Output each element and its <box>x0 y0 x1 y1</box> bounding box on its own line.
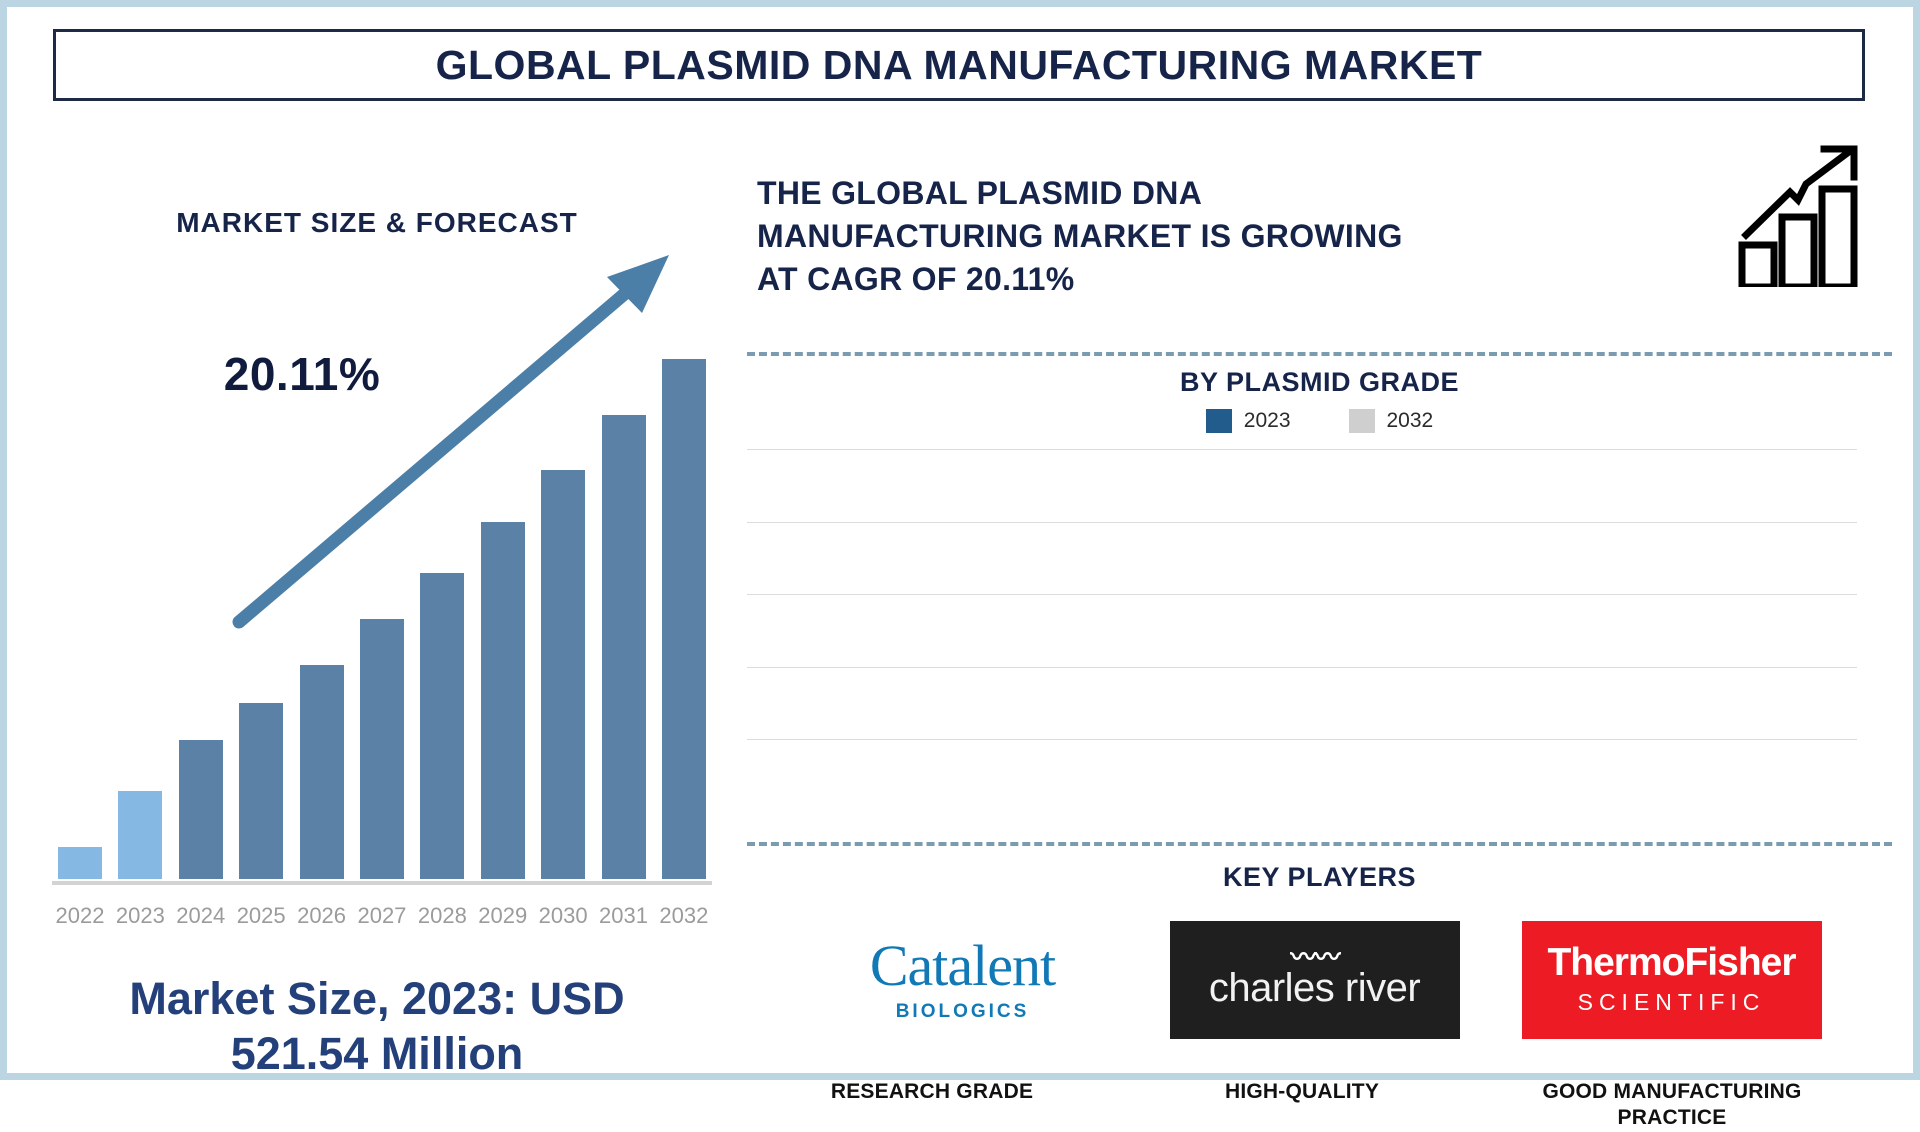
infographic-page: GLOBAL PLASMID DNA MANUFACTURING MARKET … <box>0 0 1920 1080</box>
bar-column <box>294 359 350 879</box>
market-size-bars <box>52 359 712 879</box>
bar-column <box>475 359 531 879</box>
thermofisher-wordmark: ThermoFisher <box>1547 943 1795 982</box>
year-label: 2026 <box>294 903 350 929</box>
bar-column <box>354 359 410 879</box>
catalent-wordmark: Catalent <box>870 937 1055 995</box>
year-axis-labels: 2022 2023 2024 2025 2026 2027 2028 2029 … <box>52 903 712 929</box>
bar-2027 <box>360 619 404 879</box>
bar-2031 <box>602 415 646 879</box>
logo-charles-river: 〰〰 charles river <box>1170 921 1460 1039</box>
growth-statement: THE GLOBAL PLASMID DNA MANUFACTURING MAR… <box>757 172 1657 302</box>
year-label: 2025 <box>233 903 289 929</box>
logo-thermo-fisher: ThermoFisher SCIENTIFIC <box>1522 921 1822 1039</box>
segment-title: BY PLASMID GRADE <box>737 367 1902 398</box>
market-size-bar-chart: 2022 2023 2024 2025 2026 2027 2028 2029 … <box>52 347 712 937</box>
bar-column <box>52 359 108 879</box>
page-title-box: GLOBAL PLASMID DNA MANUFACTURING MARKET <box>53 29 1865 101</box>
year-label: 2024 <box>173 903 229 929</box>
bar-column <box>233 359 289 879</box>
category-label-high-quality: HIGH-QUALITY <box>1142 1079 1462 1132</box>
bar-2026 <box>300 665 344 879</box>
bar-2029 <box>481 522 525 880</box>
bar-2025 <box>239 703 283 879</box>
bar-column <box>173 359 229 879</box>
market-size-heading: MARKET SIZE & FORECAST <box>27 207 727 239</box>
growth-statement-line-3: AT CAGR OF 20.11% <box>757 258 1657 301</box>
bar-column <box>535 359 591 879</box>
year-label: 2022 <box>52 903 108 929</box>
market-size-line-1: Market Size, 2023: USD <box>27 972 727 1027</box>
grouped-bars <box>747 449 1857 739</box>
chart-legend: 2023 2032 <box>737 409 1902 433</box>
legend-item-2032: 2032 <box>1349 409 1434 433</box>
bar-column <box>414 359 470 879</box>
year-label: 2029 <box>475 903 531 929</box>
bar-2024 <box>179 740 223 879</box>
legend-label: 2023 <box>1244 409 1291 433</box>
bar-column <box>112 359 168 879</box>
catalent-subtitle: BIOLOGICS <box>896 1001 1030 1023</box>
bar-2030 <box>541 470 585 879</box>
thermofisher-subtitle: SCIENTIFIC <box>1578 989 1766 1016</box>
year-label: 2028 <box>414 903 470 929</box>
chart-baseline <box>52 881 712 885</box>
legend-label: 2032 <box>1387 409 1434 433</box>
growth-statement-line-2: MANUFACTURING MARKET IS GROWING <box>757 215 1657 258</box>
key-players-title: KEY PLAYERS <box>737 862 1902 893</box>
page-title: GLOBAL PLASMID DNA MANUFACTURING MARKET <box>436 42 1483 89</box>
right-panel: THE GLOBAL PLASMID DNA MANUFACTURING MAR… <box>737 117 1902 1072</box>
year-label: 2030 <box>535 903 591 929</box>
year-label: 2032 <box>656 903 712 929</box>
bar-2023 <box>118 791 162 879</box>
divider-bottom <box>747 842 1892 846</box>
logo-catalent: Catalent BIOLOGICS <box>818 920 1108 1040</box>
market-size-forecast-panel: MARKET SIZE & FORECAST 20.11% <box>27 117 727 1067</box>
category-label-research-grade: RESEARCH GRADE <box>772 1079 1092 1132</box>
legend-swatch-2032 <box>1349 409 1375 433</box>
year-label: 2023 <box>112 903 168 929</box>
bar-2032 <box>662 359 706 879</box>
charles-river-wordmark: charles river <box>1209 966 1420 1011</box>
growth-bar-chart-arrow-icon <box>1732 137 1872 287</box>
market-size-value: Market Size, 2023: USD 521.54 Million <box>27 972 727 1082</box>
charles-river-mark-icon: 〰〰 <box>1290 948 1338 966</box>
key-players-logos: Catalent BIOLOGICS 〰〰 charles river Ther… <box>737 912 1902 1047</box>
divider-top <box>747 352 1892 356</box>
market-size-line-2: 521.54 Million <box>27 1027 727 1082</box>
category-label-gmp: GOOD MANUFACTURING PRACTICE <box>1512 1079 1832 1132</box>
growth-statement-line-1: THE GLOBAL PLASMID DNA <box>757 172 1657 215</box>
legend-item-2023: 2023 <box>1206 409 1291 433</box>
bar-column <box>656 359 712 879</box>
year-label: 2031 <box>596 903 652 929</box>
category-axis-labels: RESEARCH GRADE HIGH-QUALITY GOOD MANUFAC… <box>747 1079 1857 1132</box>
year-label: 2027 <box>354 903 410 929</box>
bar-2022 <box>58 847 102 880</box>
plasmid-grade-bar-chart: RESEARCH GRADE HIGH-QUALITY GOOD MANUFAC… <box>747 449 1857 739</box>
bar-column <box>596 359 652 879</box>
bar-2028 <box>420 573 464 879</box>
legend-swatch-2023 <box>1206 409 1232 433</box>
